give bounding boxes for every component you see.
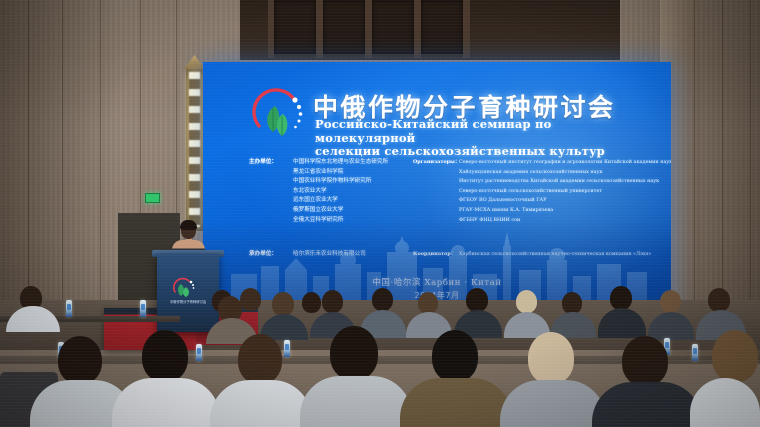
banner-subtitle-ru: Российско-Китайский семинар по молекуляр…: [315, 118, 655, 159]
water-bottle: [66, 300, 72, 317]
audience-head: [238, 334, 282, 384]
organizers-ru-list: Северо-восточный институт географии и аг…: [459, 158, 671, 225]
audience-head: [660, 290, 681, 313]
exit-sign: [145, 193, 160, 203]
audience-head: [708, 288, 730, 312]
audience-head: [528, 332, 574, 384]
alcove-frame: [463, 0, 470, 58]
alcove-window: [323, 0, 365, 54]
organizers-ru: Организаторы： Северо-восточный институт …: [413, 158, 663, 225]
audience-head: [322, 290, 343, 313]
audience-head: [330, 326, 378, 380]
niche-light-strip: [189, 72, 200, 227]
event-logo-icon: [249, 86, 311, 148]
led-banner-screen: 中俄作物分子育种研讨会 Российско-Китайский семинар …: [203, 62, 671, 310]
audience-head: [466, 288, 488, 312]
audience-shoulders: [592, 382, 702, 427]
audience-shoulders: [400, 378, 512, 427]
audience-head: [418, 292, 438, 314]
organizers-cn-list: 中国科学院东北地理与农业生态研究所 黑龙江省农业科学院 中国农业科学院作物科学研…: [293, 158, 388, 225]
alcove-frame: [316, 0, 323, 58]
alcove-frame: [365, 0, 372, 58]
audience-head: [622, 336, 668, 386]
audience-head: [562, 292, 582, 314]
speaker-hair: [180, 220, 197, 230]
water-bottle: [196, 344, 202, 361]
water-bottle: [140, 300, 146, 317]
podium-label: 中俄作物分子育种研讨会: [161, 300, 215, 305]
wall-shadow-left: [0, 0, 120, 340]
audience-head: [302, 292, 321, 313]
alcove-window: [372, 0, 414, 54]
audience-head: [610, 286, 632, 310]
water-bottle: [284, 340, 290, 357]
alcove-window: [274, 0, 316, 54]
podium-logo-icon: [169, 276, 207, 298]
organizers-ru-label: Организаторы：: [413, 158, 459, 225]
audience-head: [712, 330, 758, 382]
conference-photo: 中俄作物分子育种研讨会 Российско-Китайский семинар …: [0, 0, 760, 427]
audience-shoulders: [300, 376, 412, 427]
audience-head: [58, 336, 102, 384]
audience-head: [272, 292, 294, 316]
audience-head: [432, 330, 478, 382]
alcove-frame: [414, 0, 421, 58]
audience-shoulders: [112, 378, 220, 427]
audience-head: [240, 288, 261, 311]
organizers-cn-label: 主办单位：: [249, 158, 293, 225]
audience-head: [372, 288, 393, 311]
water-bottle: [692, 344, 698, 361]
alcove-window: [421, 0, 463, 54]
audience-head: [516, 290, 537, 313]
audience-head: [142, 330, 188, 382]
